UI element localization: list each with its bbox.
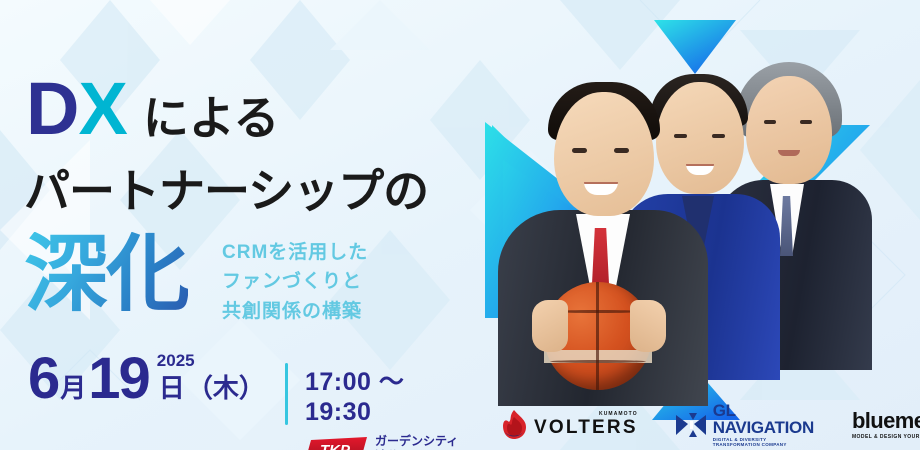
subtitle-line-2: ファンづくりと (222, 267, 368, 296)
tkp-logo-icon: TKP (305, 437, 367, 450)
date-month-number: 6 (28, 352, 58, 405)
section-divider (285, 363, 288, 425)
subtitle-line-3: 共創関係の構築 (222, 297, 368, 326)
sponsor-logo-gl-navigation: GL NAVIGATION DIGITAL & DIVERSITY TRANSF… (676, 402, 814, 447)
sponsor-logo-bluememe: bluememe MODEL & DESIGN YOUR BUSINESS (852, 410, 920, 440)
event-time: 17:00 ～ 19:30 (305, 362, 470, 427)
bluememe-name: bluememe (852, 410, 920, 432)
poster-text-block: D X による パートナーシップの 深化 CRMを活用した ファンづくりと 共創… (0, 0, 470, 450)
speaker-left (498, 82, 708, 382)
date-day-of-week: （木） (187, 375, 265, 405)
gl-navigation-tagline: DIGITAL & DIVERSITY TRANSFORMATION COMPA… (713, 438, 814, 447)
speaker-photo-group (440, 0, 920, 450)
volters-name: VOLTERS (534, 418, 638, 437)
date-month-unit: 月 (60, 375, 86, 405)
date-day-number: 19 (88, 352, 149, 405)
venue-name-line-1: ガーデンシティ (375, 434, 458, 449)
headline-emphasis: 深化 (24, 232, 188, 316)
headline-connector: による (143, 95, 280, 141)
event-poster: D X による パートナーシップの 深化 CRMを活用した ファンづくりと 共創… (0, 0, 920, 450)
venue-name: ガーデンシティ 渋谷 (375, 434, 458, 450)
event-date: 6 月 19 2025 日 （木） (28, 352, 265, 405)
date-year: 2025 (157, 351, 195, 371)
headline-dx-x: X (78, 72, 126, 146)
venue-row: TKP ガーデンシティ 渋谷 (305, 434, 470, 450)
event-time-venue: 17:00 ～ 19:30 TKP ガ (305, 362, 470, 450)
headline-line-1: D X による (26, 72, 279, 146)
subtitle-line-1: CRMを活用した (222, 238, 368, 267)
sponsor-logo-kumamoto-volters: KUMAMOTO VOLTERS (500, 410, 638, 440)
headline-dx-d: D (26, 72, 78, 146)
subtitle-block: CRMを活用した ファンづくりと 共創関係の構築 (222, 238, 368, 326)
headline-line-2: パートナーシップの (24, 168, 428, 214)
volters-flame-icon (500, 410, 528, 440)
gl-navigation-name: GL NAVIGATION (713, 402, 814, 436)
bluememe-tagline: MODEL & DESIGN YOUR BUSINESS (852, 435, 920, 440)
sponsor-logo-row: KUMAMOTO VOLTERS GL NAVIGATION DIGITAL &… (500, 402, 920, 447)
date-day-unit: 日 (159, 375, 185, 405)
gl-navigation-mark-icon (676, 413, 706, 437)
svg-text:TKP: TKP (320, 442, 351, 450)
